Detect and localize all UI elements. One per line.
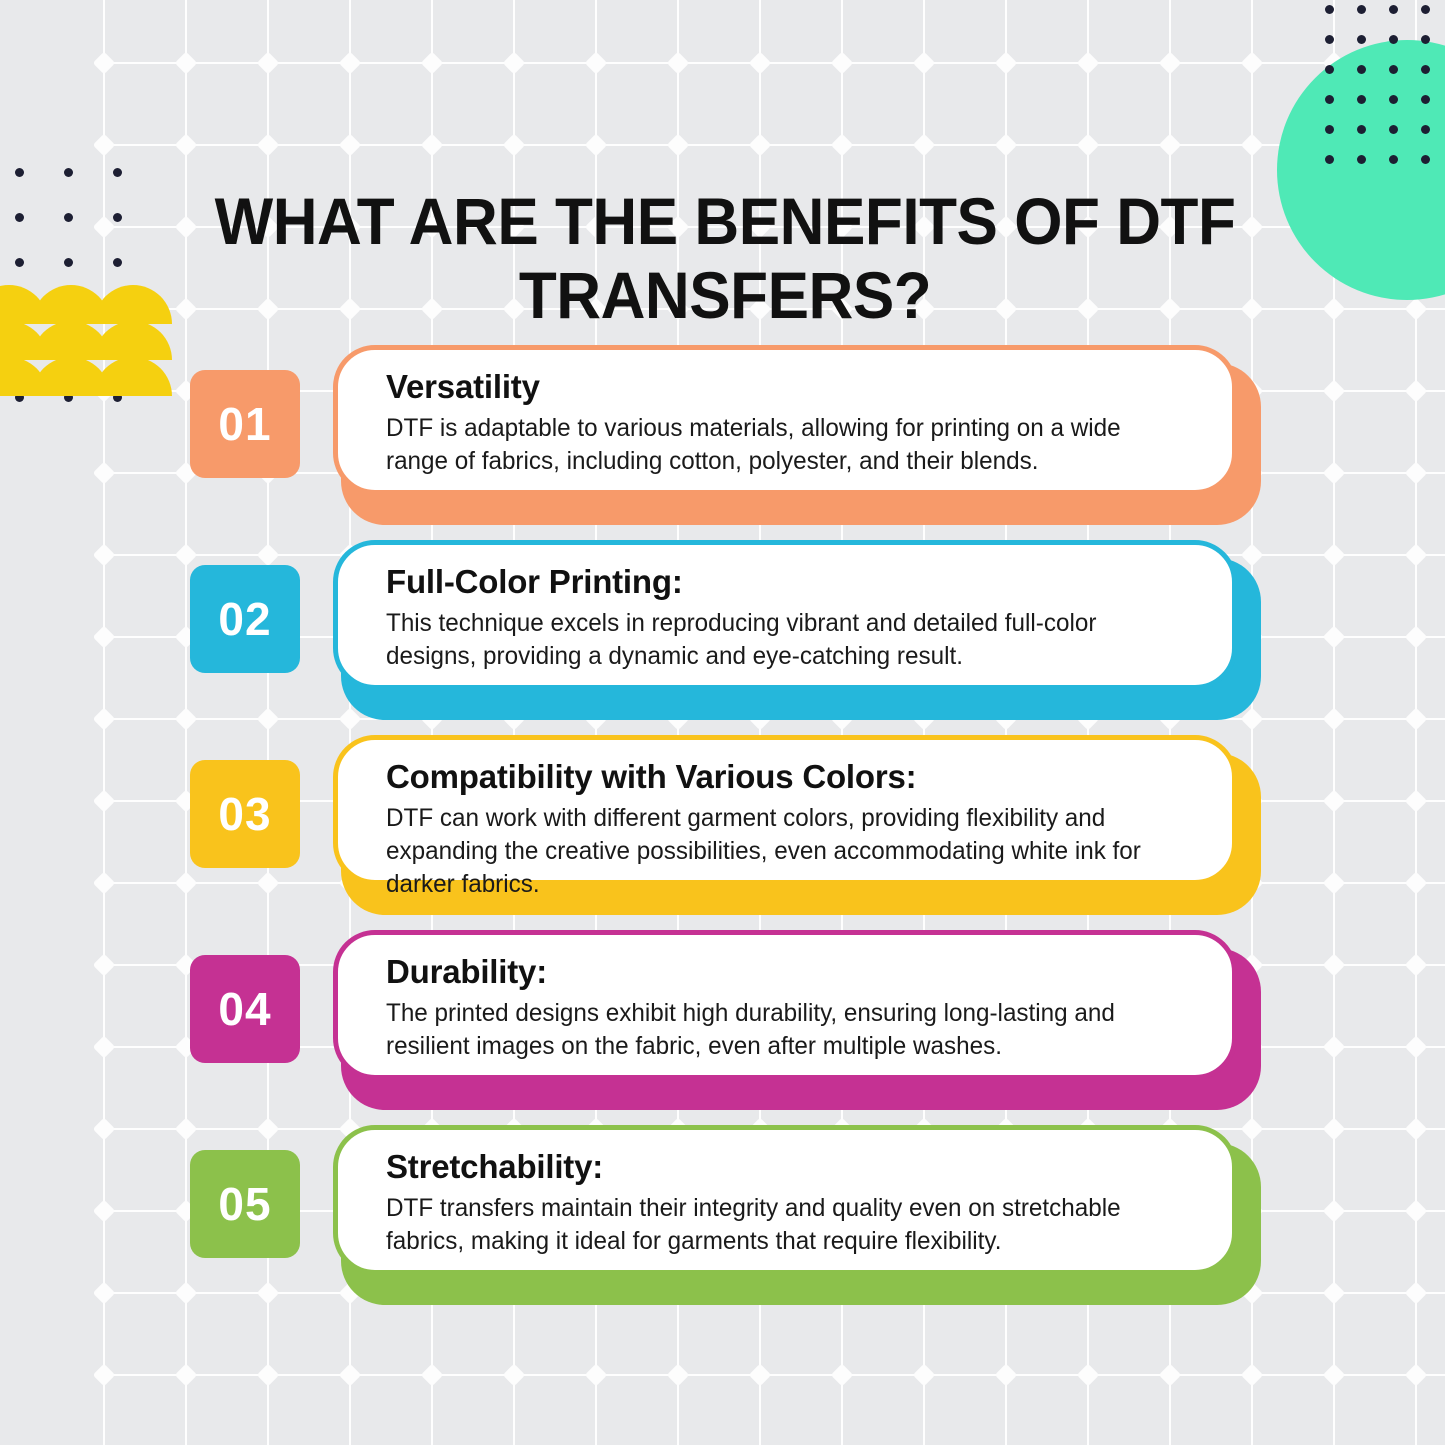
decorative-dot xyxy=(1325,95,1334,104)
benefit-row: 05Stretchability:DTF transfers maintain … xyxy=(0,1125,1445,1320)
grid-diamond xyxy=(667,134,690,157)
benefit-row: 03Compatibility with Various Colors:DTF … xyxy=(0,735,1445,930)
grid-diamond xyxy=(749,52,772,75)
card-body: Stretchability:DTF transfers maintain th… xyxy=(333,1125,1237,1275)
benefit-row: 04Durability:The printed designs exhibit… xyxy=(0,930,1445,1125)
page-title: WHAT ARE THE BENEFITS OF DTF TRANSFERS? xyxy=(185,184,1266,332)
benefit-row: 01VersatilityDTF is adaptable to various… xyxy=(0,345,1445,540)
decorative-dot xyxy=(113,168,122,177)
grid-diamond xyxy=(995,52,1018,75)
card-body: Full-Color Printing:This technique excel… xyxy=(333,540,1237,690)
benefits-list: 01VersatilityDTF is adaptable to various… xyxy=(0,345,1445,1320)
benefit-number-badge: 02 xyxy=(190,565,300,673)
decorative-dot xyxy=(1389,155,1398,164)
decorative-dot xyxy=(1421,95,1430,104)
grid-diamond xyxy=(667,52,690,75)
decorative-dot xyxy=(1389,125,1398,134)
decorative-dot xyxy=(1357,35,1366,44)
grid-diamond xyxy=(1077,1364,1100,1387)
grid-diamond xyxy=(667,1364,690,1387)
benefit-description: DTF is adaptable to various materials, a… xyxy=(386,412,1178,478)
grid-diamond xyxy=(913,52,936,75)
grid-diamond xyxy=(175,52,198,75)
benefit-heading: Durability: xyxy=(386,953,1202,991)
grid-diamond xyxy=(831,52,854,75)
decorative-dot xyxy=(1421,5,1430,14)
benefit-row: 02Full-Color Printing:This technique exc… xyxy=(0,540,1445,735)
grid-diamond xyxy=(339,52,362,75)
card-body: Durability:The printed designs exhibit h… xyxy=(333,930,1237,1080)
grid-diamond xyxy=(93,1364,116,1387)
benefit-heading: Full-Color Printing: xyxy=(386,563,1202,601)
benefit-heading: Compatibility with Various Colors: xyxy=(386,758,1202,796)
decorative-dot xyxy=(1389,35,1398,44)
card-body: Compatibility with Various Colors:DTF ca… xyxy=(333,735,1237,885)
decorative-dot xyxy=(113,213,122,222)
decorative-dot xyxy=(1357,5,1366,14)
benefit-number-badge: 01 xyxy=(190,370,300,478)
decorative-dot xyxy=(1357,95,1366,104)
benefit-number-badge: 05 xyxy=(190,1150,300,1258)
decorative-dot xyxy=(1421,125,1430,134)
grid-diamond xyxy=(831,134,854,157)
grid-diamond xyxy=(1405,298,1428,321)
benefit-card: Durability:The printed designs exhibit h… xyxy=(333,930,1253,1100)
grid-diamond xyxy=(421,1364,444,1387)
decorative-dot xyxy=(64,258,73,267)
decorative-dot xyxy=(1389,65,1398,74)
grid-diamond xyxy=(93,134,116,157)
decorative-dot xyxy=(113,258,122,267)
benefit-description: The printed designs exhibit high durabil… xyxy=(386,997,1178,1063)
grid-diamond xyxy=(585,52,608,75)
benefit-description: DTF transfers maintain their integrity a… xyxy=(386,1192,1178,1258)
decorative-dot xyxy=(1325,65,1334,74)
grid-diamond xyxy=(421,134,444,157)
decorative-dot xyxy=(15,258,24,267)
grid-diamond xyxy=(995,134,1018,157)
decorative-dot xyxy=(1357,65,1366,74)
benefit-card: VersatilityDTF is adaptable to various m… xyxy=(333,345,1253,515)
decorative-dot xyxy=(1325,35,1334,44)
decorative-dot xyxy=(1325,155,1334,164)
benefit-description: This technique excels in reproducing vib… xyxy=(386,607,1178,673)
grid-diamond xyxy=(585,1364,608,1387)
grid-diamond xyxy=(339,1364,362,1387)
grid-diamond xyxy=(175,1364,198,1387)
dot-grid-top-right xyxy=(1325,5,1445,191)
grid-diamond xyxy=(503,52,526,75)
grid-diamond xyxy=(93,52,116,75)
grid-diamond xyxy=(1159,134,1182,157)
grid-diamond xyxy=(749,1364,772,1387)
benefit-number-badge: 03 xyxy=(190,760,300,868)
decorative-dot xyxy=(15,168,24,177)
grid-diamond xyxy=(503,1364,526,1387)
grid-diamond xyxy=(503,134,526,157)
decorative-dot xyxy=(1357,155,1366,164)
benefit-number-badge: 04 xyxy=(190,955,300,1063)
decorative-dot xyxy=(1357,125,1366,134)
grid-diamond xyxy=(339,134,362,157)
decorative-dot xyxy=(1325,5,1334,14)
decorative-dot xyxy=(1325,125,1334,134)
grid-diamond xyxy=(1323,1364,1346,1387)
benefit-description: DTF can work with different garment colo… xyxy=(386,802,1178,901)
grid-diamond xyxy=(1241,52,1264,75)
decorative-dot xyxy=(64,168,73,177)
grid-diamond xyxy=(257,1364,280,1387)
grid-diamond xyxy=(995,1364,1018,1387)
benefit-card: Full-Color Printing:This technique excel… xyxy=(333,540,1253,710)
card-body: VersatilityDTF is adaptable to various m… xyxy=(333,345,1237,495)
grid-diamond xyxy=(1241,1364,1264,1387)
grid-diamond xyxy=(913,1364,936,1387)
grid-diamond xyxy=(585,134,608,157)
grid-diamond xyxy=(913,134,936,157)
decorative-dot xyxy=(64,213,73,222)
benefit-heading: Stretchability: xyxy=(386,1148,1202,1186)
decorative-dot xyxy=(1389,5,1398,14)
grid-diamond xyxy=(175,134,198,157)
benefit-card: Compatibility with Various Colors:DTF ca… xyxy=(333,735,1253,905)
yellow-dome xyxy=(94,285,172,324)
grid-diamond xyxy=(1159,1364,1182,1387)
grid-diamond xyxy=(831,1364,854,1387)
grid-diamond xyxy=(257,52,280,75)
benefit-card: Stretchability:DTF transfers maintain th… xyxy=(333,1125,1253,1295)
grid-diamond xyxy=(1077,134,1100,157)
grid-diamond xyxy=(257,134,280,157)
grid-diamond xyxy=(1077,52,1100,75)
grid-diamond xyxy=(1159,52,1182,75)
decorative-dot xyxy=(1421,35,1430,44)
grid-diamond xyxy=(1241,134,1264,157)
grid-diamond xyxy=(421,52,444,75)
grid-diamond xyxy=(1405,1364,1428,1387)
grid-diamond xyxy=(749,134,772,157)
decorative-dot xyxy=(1421,155,1430,164)
decorative-dot xyxy=(1389,95,1398,104)
grid-diamond xyxy=(1323,298,1346,321)
infographic-poster: WHAT ARE THE BENEFITS OF DTF TRANSFERS? … xyxy=(0,0,1445,1445)
decorative-dot xyxy=(1421,65,1430,74)
decorative-dot xyxy=(15,213,24,222)
benefit-heading: Versatility xyxy=(386,368,1202,406)
